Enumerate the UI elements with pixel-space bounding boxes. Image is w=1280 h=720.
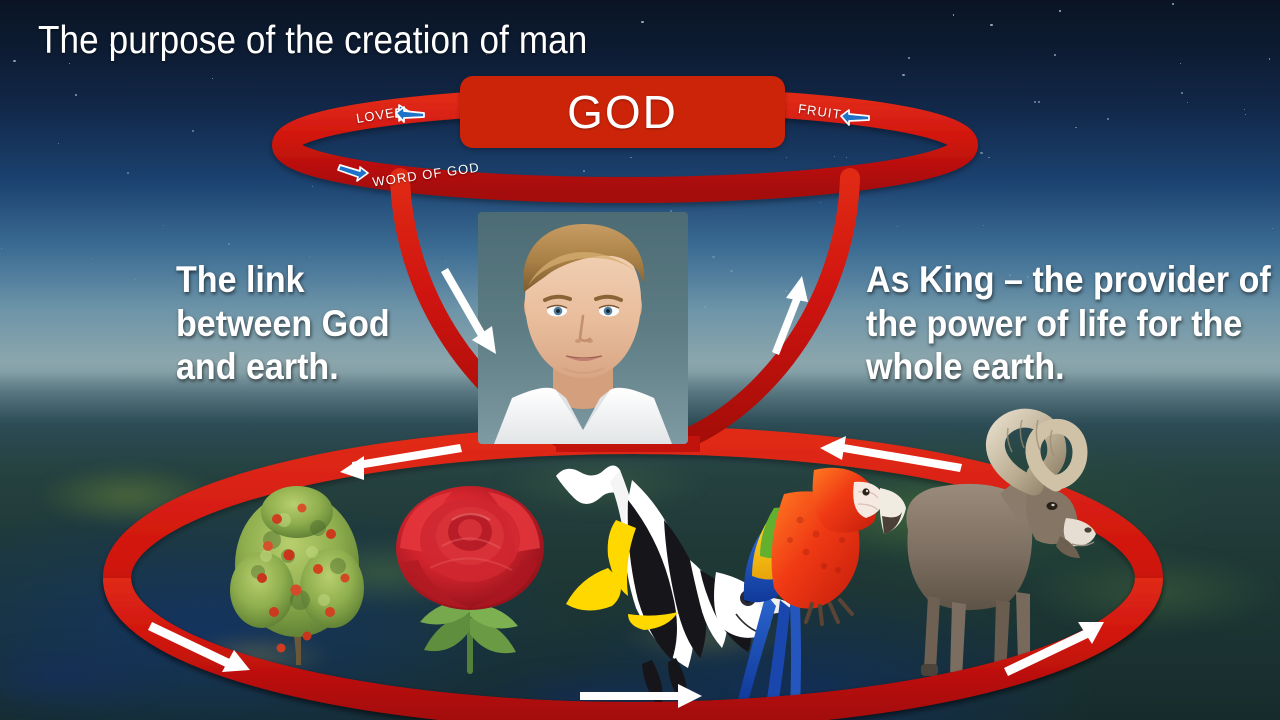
caption-right: As King – the provider of the power of l…	[866, 258, 1234, 389]
caption-left-line-2: between God	[176, 302, 390, 346]
caption-right-line-2: the power of life for the	[866, 302, 1234, 346]
slide-canvas: The purpose of the creation of man	[0, 0, 1280, 720]
scarlet-macaw-sprite	[722, 468, 906, 720]
red-rose-sprite	[396, 486, 544, 674]
caption-left-line-3: and earth.	[176, 345, 390, 389]
caption-right-line-1: As King – the provider of	[866, 258, 1234, 302]
caption-right-line-3: whole earth.	[866, 345, 1234, 389]
caption-left: The link between God and earth.	[176, 258, 390, 389]
fruit-tree-sprite	[230, 486, 364, 665]
man-portrait	[478, 212, 688, 444]
god-label-box[interactable]: GOD	[460, 76, 785, 148]
god-label-text: GOD	[567, 85, 678, 139]
caption-left-line-1: The link	[176, 258, 390, 302]
